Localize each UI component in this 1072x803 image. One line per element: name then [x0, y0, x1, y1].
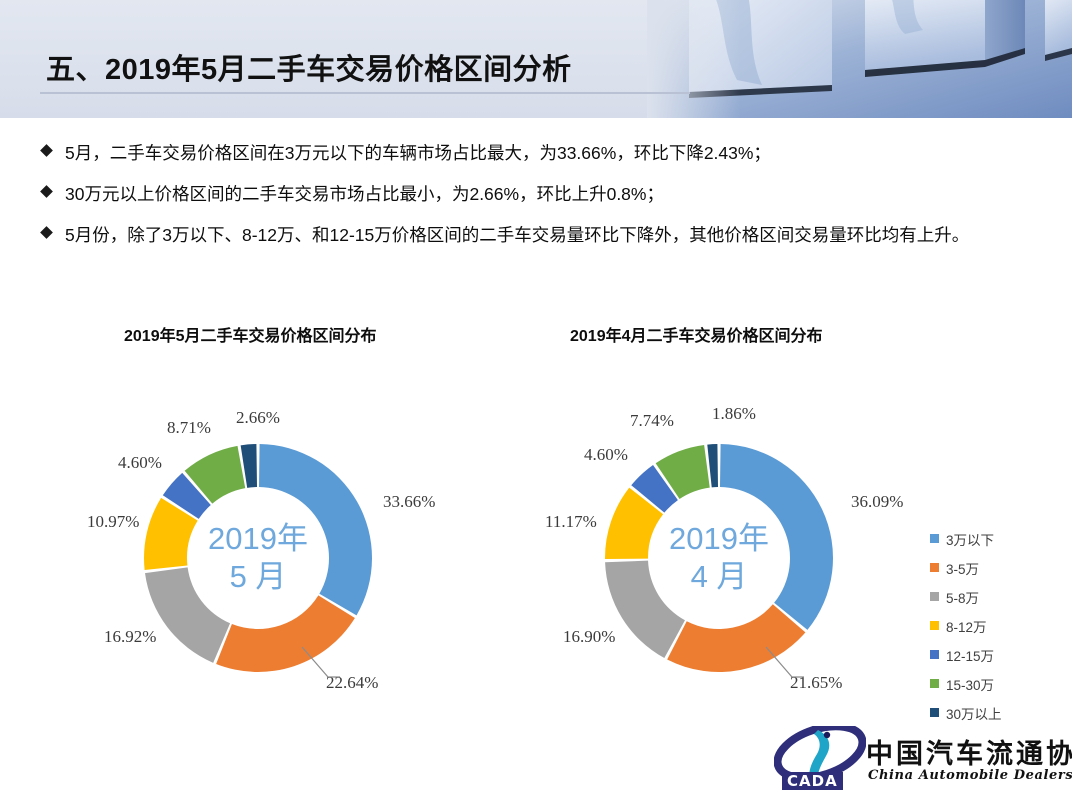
bullet-item: 30万元以上价格区间的二手车交易市场占比最小，为2.66%，环比上升0.8%；	[42, 179, 1042, 209]
legend-label: 5-8万	[946, 587, 979, 607]
bullet-list: 5月，二手车交易价格区间在3万元以下的车辆市场占比最大，为33.66%，环比下降…	[42, 138, 1042, 261]
header-banner: 五、2019年5月二手车交易价格区间分析	[0, 0, 1072, 118]
cada-logo: CADA 中国汽车流通协会 China Automobile Dealers A…	[770, 726, 1060, 794]
pct-label-apr-6: 1.86%	[712, 404, 756, 424]
legend-item-2[interactable]: 5-8万	[930, 582, 1002, 611]
pct-label-apr-2: 16.90%	[563, 627, 615, 647]
cada-chinese-name: 中国汽车流通协会	[866, 732, 1072, 771]
donut-slice[interactable]	[605, 561, 685, 658]
pct-label-apr-3: 11.17%	[545, 512, 597, 532]
chart-title-may: 2019年5月二手车交易价格区间分布	[124, 322, 377, 346]
diamond-bullet-icon	[40, 185, 53, 198]
donut-slice[interactable]	[259, 444, 372, 615]
donut-chart-april[interactable]	[604, 443, 834, 673]
legend-swatch-icon	[930, 534, 939, 543]
pct-label-may-0: 33.66%	[383, 492, 435, 512]
leader-line-april	[764, 645, 824, 690]
chart-legend: 3万以下 3-5万 5-8万 8-12万 12-15万 15-30万 30万以上	[930, 524, 1002, 727]
legend-swatch-icon	[930, 563, 939, 572]
legend-item-1[interactable]: 3-5万	[930, 553, 1002, 582]
pct-label-may-3: 10.97%	[87, 512, 139, 532]
bullet-text: 30万元以上价格区间的二手车交易市场占比最小，为2.66%，环比上升0.8%；	[65, 179, 664, 209]
legend-item-0[interactable]: 3万以下	[930, 524, 1002, 553]
pct-label-may-5: 8.71%	[167, 418, 211, 438]
legend-item-5[interactable]: 15-30万	[930, 669, 1002, 698]
pct-label-may-4: 4.60%	[118, 453, 162, 473]
leader-line-may	[300, 645, 360, 690]
legend-item-3[interactable]: 8-12万	[930, 611, 1002, 640]
diamond-bullet-icon	[40, 226, 53, 239]
header-decoration-image	[647, 0, 1072, 118]
legend-item-6[interactable]: 30万以上	[930, 698, 1002, 727]
donut-slice[interactable]	[707, 444, 718, 487]
donut-slice[interactable]	[720, 444, 833, 630]
legend-item-4[interactable]: 12-15万	[930, 640, 1002, 669]
chart-title-april: 2019年4月二手车交易价格区间分布	[570, 322, 823, 346]
legend-swatch-icon	[930, 650, 939, 659]
title-underline	[40, 92, 690, 94]
donut-slice[interactable]	[145, 567, 230, 662]
pct-label-may-2: 16.92%	[104, 627, 156, 647]
legend-label: 15-30万	[946, 674, 994, 694]
bullet-text: 5月份，除了3万以下、8-12万、和12-15万价格区间的二手车交易量环比下降外…	[65, 220, 969, 250]
bullet-text: 5月，二手车交易价格区间在3万元以下的车辆市场占比最大，为33.66%，环比下降…	[65, 138, 771, 168]
legend-swatch-icon	[930, 708, 939, 717]
legend-swatch-icon	[930, 621, 939, 630]
legend-label: 3万以下	[946, 529, 994, 549]
pct-label-apr-5: 7.74%	[630, 411, 674, 431]
page-title: 五、2019年5月二手车交易价格区间分析	[46, 46, 572, 88]
legend-label: 3-5万	[946, 558, 979, 578]
legend-label: 12-15万	[946, 645, 994, 665]
cada-english-name: China Automobile Dealers Association	[868, 768, 1072, 783]
cada-abbr: CADA	[782, 772, 843, 790]
legend-label: 30万以上	[946, 703, 1002, 723]
legend-swatch-icon	[930, 592, 939, 601]
legend-label: 8-12万	[946, 616, 987, 636]
pct-label-may-6: 2.66%	[236, 408, 280, 428]
donut-chart-may[interactable]	[143, 443, 373, 673]
pct-label-apr-0: 36.09%	[851, 492, 903, 512]
pct-label-apr-4: 4.60%	[584, 445, 628, 465]
legend-swatch-icon	[930, 679, 939, 688]
bullet-item: 5月份，除了3万以下、8-12万、和12-15万价格区间的二手车交易量环比下降外…	[42, 220, 1042, 250]
bullet-item: 5月，二手车交易价格区间在3万元以下的车辆市场占比最大，为33.66%，环比下降…	[42, 138, 1042, 168]
diamond-bullet-icon	[40, 144, 53, 157]
